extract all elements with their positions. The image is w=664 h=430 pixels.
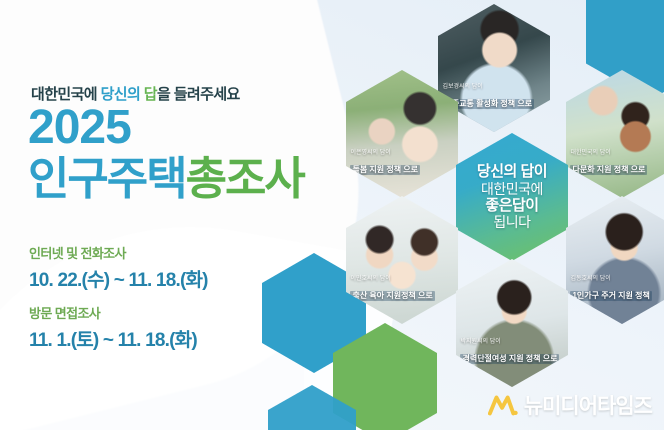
hexagon-caption-father-child: 대한민국의 답이 다문화 지원 정책 으로 [570,150,664,178]
hexagon-caption-caregiver: 이은영씨의 답이 돌봄 지원 정책 으로 [350,150,453,178]
hexagon-caption-family-baby: 이민호씨의 답이 출산 육아 지원정책 으로 [350,276,453,304]
publisher-logo-text: 뉴미디어타임즈 [524,390,652,420]
hexagon-caption-businesswoman: 박지원씨의 답이 경력단절여성 지원 정책 으로 [460,339,563,367]
page-title-main: 인구주택총조사 [28,155,304,202]
page-title-year: 2025 [28,104,131,152]
schedule-visit: 방문 면접조사 11. 1.(토) ~ 11. 18.(화) [29,303,197,352]
hexagon-caption-young-man: 김동호씨의 답이 1인가구 주거 지원 정책 [570,276,664,304]
title-segment-blue: 인구주택 [28,153,186,204]
census-poster: 김보경씨의 답이 대중교통 활성화 정책 으로 이은영씨의 답이 돌봄 지원 정… [0,0,664,430]
schedule-visit-dates: 11. 1.(토) ~ 11. 18.(화) [29,325,197,352]
center-message-text: 당신의 답이 대한민국에 좋은답이 됩니다 [477,163,547,230]
title-segment-green: 총조사 [186,153,304,204]
schedule-online-label: 인터넷 및 전화조사 [29,243,208,262]
tagline-part-4: 을 들려주세요 [157,86,240,103]
schedule-visit-label: 방문 면접조사 [29,303,197,322]
tagline-part-3: 답 [144,86,157,103]
newmedia-times-mark-icon [488,394,518,416]
publisher-logo: 뉴미디어타임즈 [488,390,652,420]
schedule-online: 인터넷 및 전화조사 10. 22.(수) ~ 11. 18.(화) [29,243,208,292]
schedule-online-dates: 10. 22.(수) ~ 11. 18.(화) [29,265,208,292]
